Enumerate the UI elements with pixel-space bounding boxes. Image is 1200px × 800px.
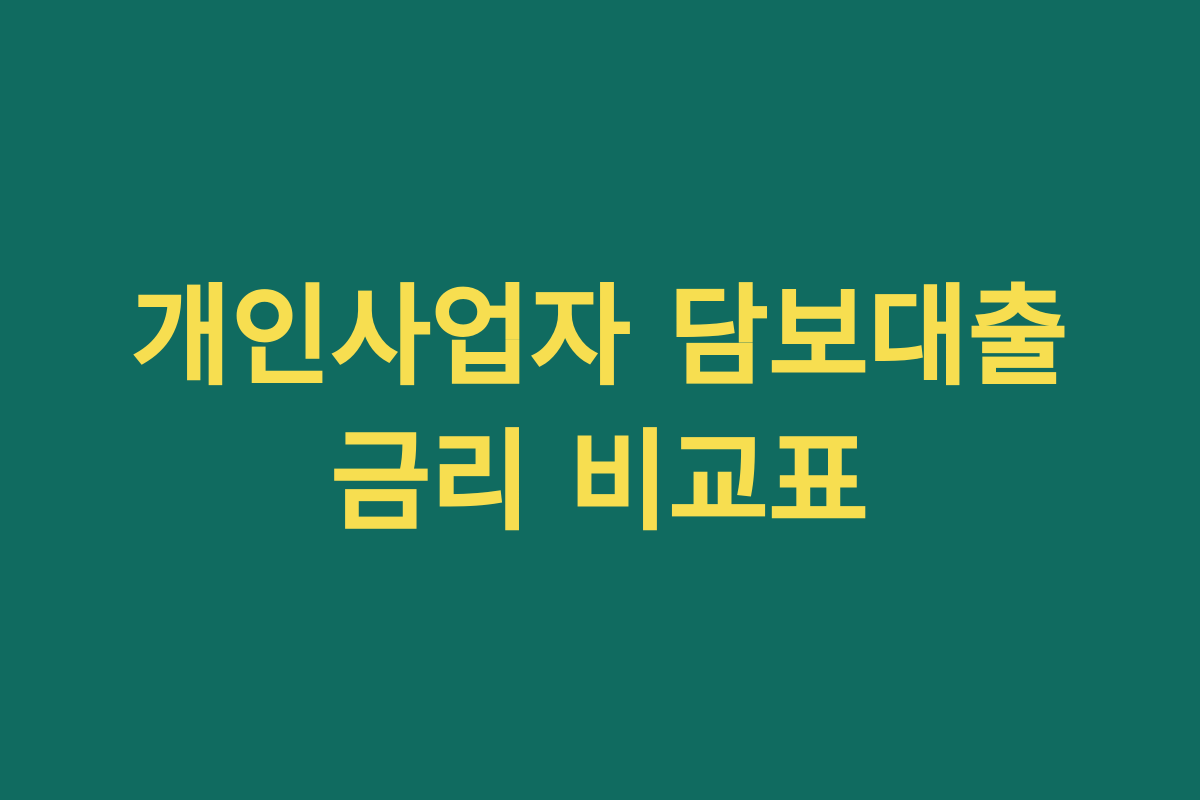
title-card-banner: 개인사업자 담보대출 금리 비교표 xyxy=(0,0,1200,800)
headline-block: 개인사업자 담보대출 금리 비교표 xyxy=(70,266,1130,555)
page-title: 개인사업자 담보대출 금리 비교표 xyxy=(70,266,1130,555)
